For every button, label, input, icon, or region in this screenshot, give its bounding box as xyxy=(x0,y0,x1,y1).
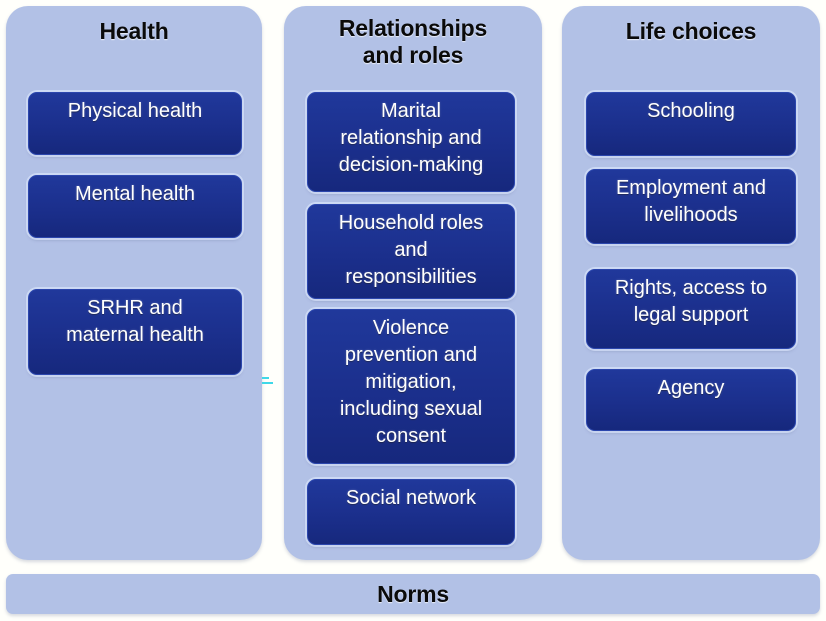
item-marital-relationship-and-decision-making[interactable]: Marital relationship and decision-making xyxy=(307,92,515,192)
item-label-rights-access-to-legal-support: Rights, access to legal support xyxy=(587,270,795,329)
item-label-srhr-and-maternal-health: SRHR and maternal health xyxy=(29,290,241,349)
item-label-employment-and-livelihoods: Employment and livelihoods xyxy=(587,170,795,229)
item-label-violence-prevention-and-mitigation: Violence prevention and mitigation, incl… xyxy=(308,310,514,450)
panel-title-norms: Norms xyxy=(377,581,449,608)
item-srhr-and-maternal-health[interactable]: SRHR and maternal health xyxy=(28,289,242,375)
item-label-social-network: Social network xyxy=(308,480,514,512)
item-label-physical-health: Physical health xyxy=(29,93,241,125)
item-schooling[interactable]: Schooling xyxy=(586,92,796,156)
item-agency[interactable]: Agency xyxy=(586,369,796,431)
panel-health: Health Physical health Mental health SRH… xyxy=(6,6,262,560)
item-social-network[interactable]: Social network xyxy=(307,479,515,545)
panel-life-choices: Life choices Schooling Employment and li… xyxy=(562,6,820,560)
item-household-roles-and-responsibilities[interactable]: Household roles and responsibilities xyxy=(307,204,515,299)
item-label-household-roles-and-responsibilities: Household roles and responsibilities xyxy=(308,205,514,291)
panel-norms: Norms xyxy=(6,574,820,614)
panel-title-health: Health xyxy=(6,18,262,45)
framework-diagram: Health Physical health Mental health SRH… xyxy=(0,0,826,621)
item-rights-access-to-legal-support[interactable]: Rights, access to legal support xyxy=(586,269,796,349)
panel-title-relationships-and-roles: Relationships and roles xyxy=(284,15,542,69)
item-physical-health[interactable]: Physical health xyxy=(28,92,242,155)
item-mental-health[interactable]: Mental health xyxy=(28,175,242,238)
panel-title-life-choices: Life choices xyxy=(562,18,820,45)
item-label-agency: Agency xyxy=(587,370,795,402)
item-label-marital-relationship-and-decision-making: Marital relationship and decision-making xyxy=(308,93,514,179)
item-employment-and-livelihoods[interactable]: Employment and livelihoods xyxy=(586,169,796,244)
item-violence-prevention-and-mitigation[interactable]: Violence prevention and mitigation, incl… xyxy=(307,309,515,464)
panel-relationships-and-roles: Relationships and roles Marital relation… xyxy=(284,6,542,560)
stray-cyan-mark-artifact xyxy=(262,377,273,386)
item-label-schooling: Schooling xyxy=(587,93,795,125)
item-label-mental-health: Mental health xyxy=(29,176,241,208)
